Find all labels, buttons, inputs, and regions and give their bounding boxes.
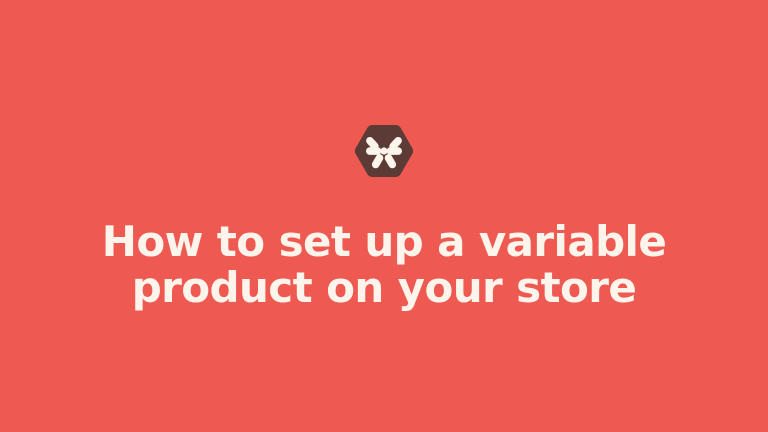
title-line-1: How to set up a variable bbox=[40, 219, 728, 265]
title-line-2: product on your store bbox=[40, 265, 728, 311]
hexagon-asterisk-logo bbox=[354, 121, 414, 181]
page-title: How to set up a variable product on your… bbox=[0, 219, 768, 311]
title-card: How to set up a variable product on your… bbox=[0, 0, 768, 432]
hexagon-asterisk-icon bbox=[354, 121, 414, 181]
